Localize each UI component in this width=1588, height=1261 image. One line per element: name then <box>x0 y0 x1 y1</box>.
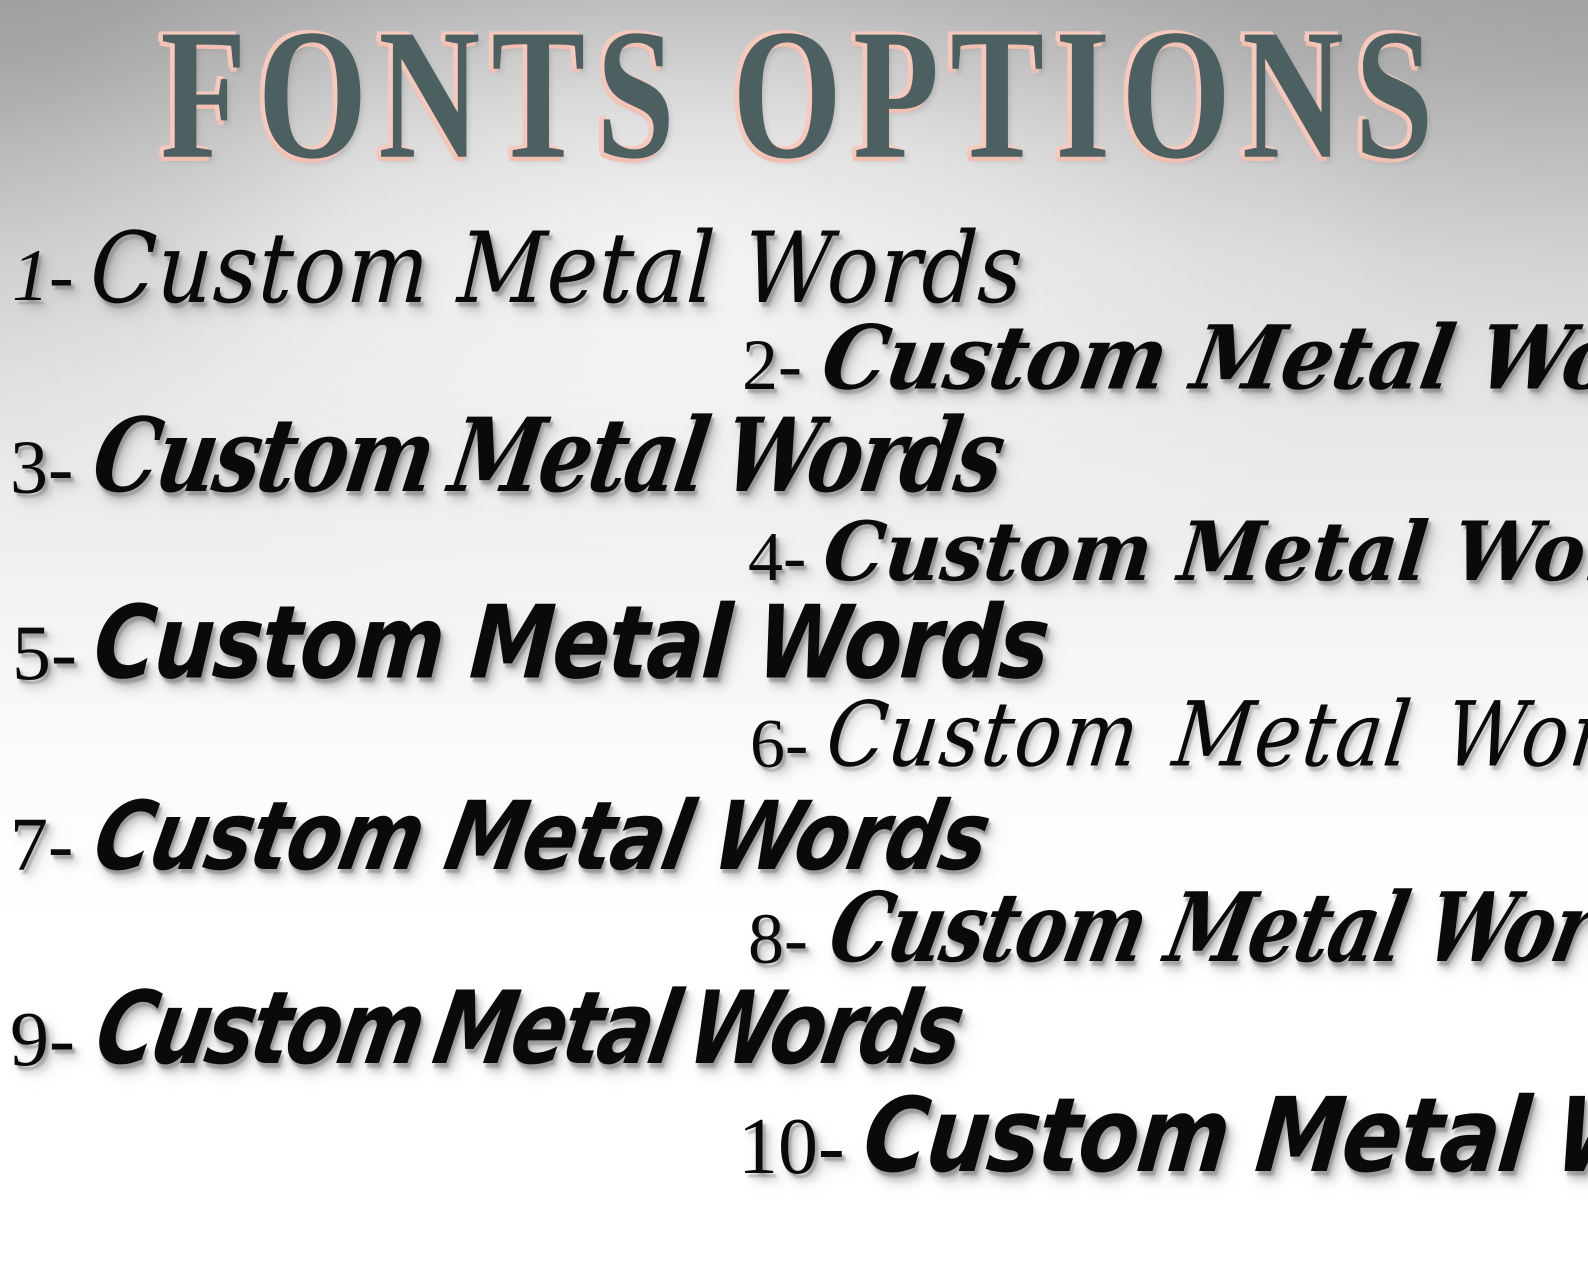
font-option-9-number: 9- <box>10 1000 75 1078</box>
font-option-8-sample: Custom Metal Words <box>822 880 1588 976</box>
font-option-7-sample: Custom Metal Words <box>87 789 996 884</box>
font-option-4-number: 4- <box>748 523 806 593</box>
font-option-9-sample: Custom Metal Words <box>89 979 968 1080</box>
font-option-10-number: 10- <box>738 1107 845 1187</box>
font-option-2[interactable]: 2-Custom Metal Words <box>742 318 1588 404</box>
font-option-6-number: 6- <box>750 710 808 780</box>
font-option-1-number: 1- <box>12 239 74 313</box>
font-option-4[interactable]: 4-Custom Metal Words <box>748 512 1588 594</box>
font-option-10[interactable]: 10-Custom Metal Words <box>738 1096 1588 1188</box>
font-option-3-sample: Custom Metal Words <box>87 404 1009 506</box>
font-option-10-sample: Custom Metal Words <box>859 1085 1588 1188</box>
font-option-1-sample: Custom Metal Words <box>88 220 1026 318</box>
font-option-7-number: 7- <box>10 807 73 883</box>
page-title: FONTS OPTIONS <box>0 2 1588 178</box>
font-option-3[interactable]: 3-Custom Metal Words <box>10 418 1051 509</box>
font-option-8-number: 8- <box>748 903 808 975</box>
font-option-6-sample: Custom Metal Words <box>822 690 1588 780</box>
font-option-5-sample: Custom Metal Words <box>91 593 1051 694</box>
font-option-9[interactable]: 9-Custom Metal Words <box>10 990 1046 1081</box>
font-option-8[interactable]: 8-Custom Metal Words <box>748 892 1588 978</box>
font-option-2-number: 2- <box>742 329 802 401</box>
page-title-text: FONTS OPTIONS <box>160 2 1444 189</box>
font-option-3-number: 3- <box>10 430 73 506</box>
font-option-6[interactable]: 6-Custom Metal Words <box>750 700 1588 781</box>
font-option-5-number: 5- <box>12 614 77 692</box>
fonts-options-poster: FONTS OPTIONS 1-Custom Metal Words 2-Cus… <box>0 0 1588 1261</box>
font-option-5[interactable]: 5-Custom Metal Words <box>12 602 1127 694</box>
font-option-4-sample: Custom Metal Words <box>820 510 1588 592</box>
font-option-2-sample: Custom Metal Words <box>816 314 1588 402</box>
